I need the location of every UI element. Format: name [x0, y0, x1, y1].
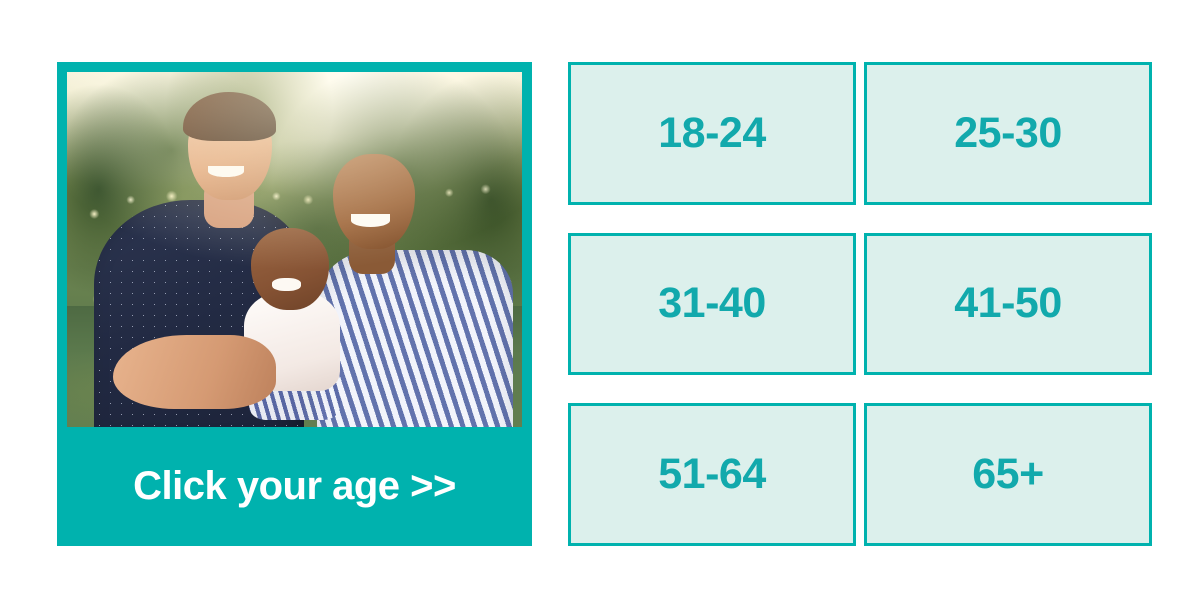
age-option-65-plus[interactable]: 65+	[864, 403, 1152, 546]
age-option-label: 65+	[972, 453, 1043, 496]
age-option-31-40[interactable]: 31-40	[568, 233, 856, 376]
promo-card[interactable]: Click your age >>	[57, 62, 532, 546]
age-option-18-24[interactable]: 18-24	[568, 62, 856, 205]
promo-caption-label: Click your age >>	[133, 464, 456, 509]
page-root: Click your age >> 18-24 25-30 31-40 41-5…	[0, 0, 1200, 600]
age-option-41-50[interactable]: 41-50	[864, 233, 1152, 376]
age-option-label: 41-50	[954, 282, 1061, 325]
age-options-grid: 18-24 25-30 31-40 41-50 51-64 65+	[568, 62, 1152, 546]
age-option-label: 31-40	[658, 282, 765, 325]
promo-caption-bar[interactable]: Click your age >>	[57, 427, 532, 546]
age-option-label: 51-64	[658, 453, 765, 496]
family-photo-image	[67, 72, 522, 427]
photo-sunlight-haze	[67, 72, 522, 427]
age-option-label: 18-24	[658, 112, 765, 155]
age-option-51-64[interactable]: 51-64	[568, 403, 856, 546]
age-option-25-30[interactable]: 25-30	[864, 62, 1152, 205]
age-option-label: 25-30	[954, 112, 1061, 155]
family-photo	[67, 72, 522, 427]
